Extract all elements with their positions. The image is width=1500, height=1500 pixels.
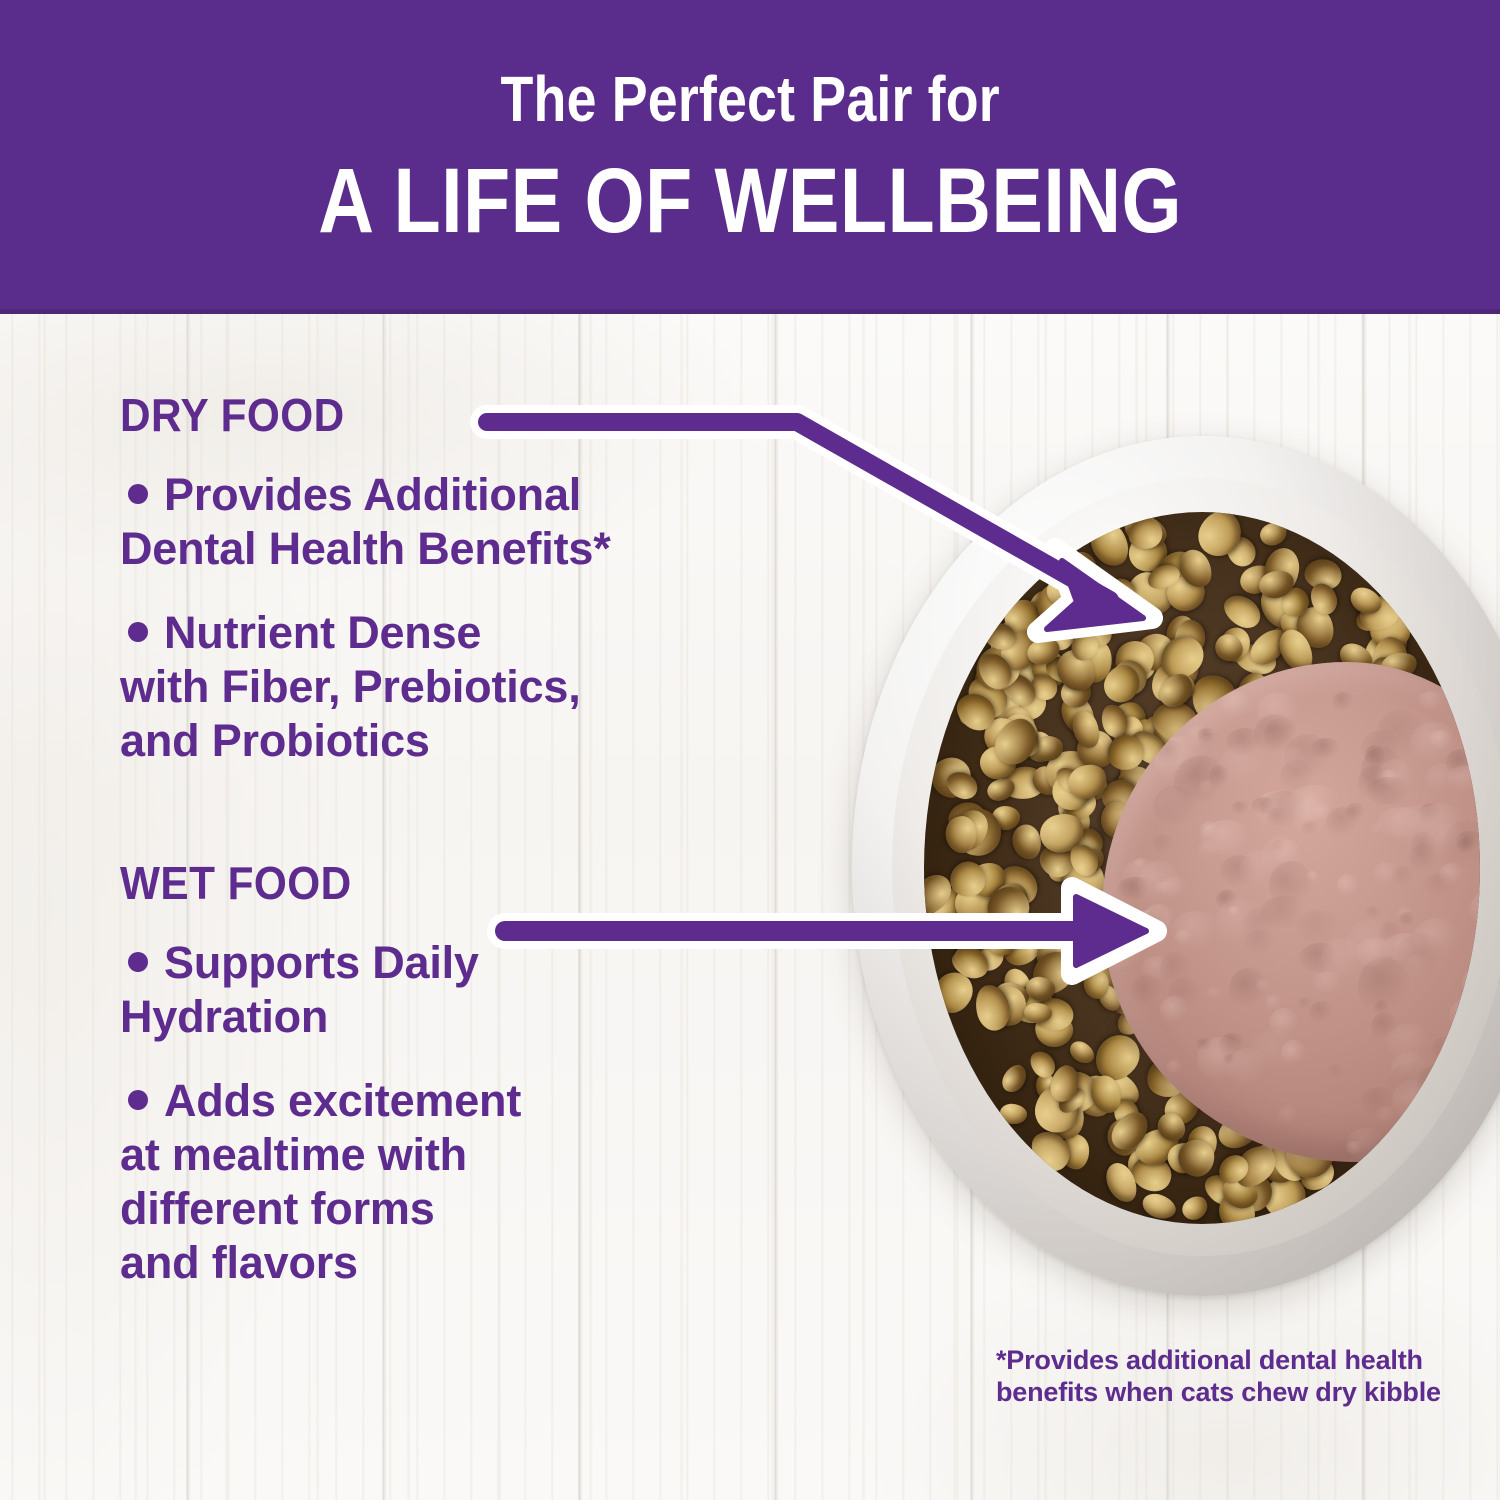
pate-texture — [1144, 909, 1168, 937]
benefits-copy-column: DRY FOOD Provides AdditionalDental Healt… — [120, 392, 810, 1320]
bullet-text-line: Supports Daily — [164, 937, 479, 988]
header-line-1: The Perfect Pair for — [500, 67, 999, 131]
bullet-text-line: with Fiber, Prebiotics, — [120, 661, 581, 712]
pate-texture — [1391, 1052, 1428, 1089]
list-item: Provides AdditionalDental Health Benefit… — [120, 468, 810, 576]
pate-texture — [1256, 979, 1271, 993]
pate-texture — [1157, 740, 1182, 765]
bullet-dot-icon — [128, 952, 148, 972]
pate-texture — [1160, 996, 1190, 1023]
pate-texture — [1405, 954, 1433, 977]
bullet-dot-icon — [128, 484, 148, 504]
bullet-text-line: Provides Additional — [164, 469, 581, 520]
pate-texture — [1470, 888, 1480, 930]
list-item: Adds excitementat mealtime withdifferent… — [120, 1074, 810, 1290]
bullet-text-line: and flavors — [120, 1237, 358, 1288]
pate-texture — [1269, 1008, 1299, 1038]
pet-food-bowl-photo — [852, 436, 1500, 1298]
kibble-piece — [945, 815, 977, 853]
bullet-text-line: Dental Health Benefits* — [120, 523, 611, 574]
pate-texture — [1411, 832, 1436, 861]
pate-texture — [1337, 874, 1358, 898]
bullet-text-line: different forms — [120, 1183, 435, 1234]
pate-texture — [1309, 1001, 1334, 1024]
pate-texture — [1361, 1087, 1397, 1116]
pate-texture — [1365, 906, 1383, 919]
pate-texture — [1358, 765, 1389, 802]
pate-texture — [1206, 986, 1223, 1000]
bullet-text-line: Nutrient Dense — [164, 607, 481, 658]
pate-texture — [1424, 873, 1457, 896]
bullet-dot-icon — [128, 1090, 148, 1110]
pate-texture — [1160, 952, 1191, 986]
pate-texture — [1269, 861, 1313, 910]
pate-texture — [1332, 692, 1355, 711]
bowl-interior — [924, 512, 1480, 1224]
kibble-piece — [1178, 1191, 1212, 1224]
kibble-piece — [1066, 1037, 1098, 1068]
section-spacer — [120, 798, 810, 860]
pate-texture — [1198, 733, 1223, 753]
pate-texture — [1242, 908, 1279, 941]
footnote-disclaimer: *Provides additional dental health benef… — [996, 1344, 1466, 1409]
pate-texture — [1284, 734, 1332, 781]
footnote-line-1: *Provides additional dental health — [996, 1344, 1466, 1376]
section-heading-wet-food: WET FOOD — [120, 860, 755, 906]
pate-texture — [1462, 967, 1480, 1000]
pate-texture — [1474, 1040, 1480, 1060]
pate-texture — [1296, 910, 1343, 946]
list-item: Nutrient Densewith Fiber, Prebiotics,and… — [120, 606, 810, 768]
list-item: Supports DailyHydration — [120, 936, 810, 1044]
pate-texture — [1131, 975, 1162, 1008]
pate-texture — [1175, 929, 1192, 944]
pate-texture — [1154, 881, 1173, 893]
pate-texture — [1102, 922, 1144, 976]
bullet-text-line: Hydration — [120, 991, 328, 1042]
pate-texture — [1249, 1030, 1301, 1071]
bullet-dot-icon — [128, 622, 148, 642]
kibble-piece — [1218, 590, 1265, 635]
pate-texture — [1231, 801, 1251, 815]
pate-texture — [1397, 906, 1413, 923]
infographic-canvas: The Perfect Pair for A LIFE OF WELLBEING… — [0, 0, 1500, 1500]
pate-texture — [1166, 1060, 1184, 1074]
pate-texture — [1278, 1105, 1299, 1126]
footnote-line-2: benefits when cats chew dry kibble — [996, 1376, 1466, 1408]
pate-texture — [1153, 834, 1174, 853]
section-heading-dry-food: DRY FOOD — [120, 392, 755, 438]
pate-texture — [1221, 691, 1252, 716]
pate-texture — [1418, 691, 1445, 709]
pate-texture — [1298, 997, 1313, 1010]
pate-texture — [1346, 1128, 1387, 1162]
bullet-text-line: and Probiotics — [120, 715, 430, 766]
kibble-piece — [1084, 969, 1109, 999]
pate-texture — [1431, 1037, 1455, 1064]
bullet-text-line: Adds excitement — [164, 1075, 521, 1126]
header-banner: The Perfect Pair for A LIFE OF WELLBEING — [0, 0, 1500, 314]
dry-food-bullet-list: Provides AdditionalDental Health Benefit… — [120, 468, 810, 768]
pate-texture — [1328, 1064, 1345, 1078]
kibble-piece — [997, 1060, 1031, 1096]
wet-food-bullet-list: Supports DailyHydration Adds excitementa… — [120, 936, 810, 1290]
pate-texture — [1447, 765, 1480, 791]
bullet-text-line: at mealtime with — [120, 1129, 467, 1180]
pate-texture — [1449, 997, 1480, 1035]
pate-texture — [1379, 922, 1402, 944]
pate-texture — [1196, 1038, 1214, 1051]
pate-texture — [1289, 785, 1342, 820]
header-line-2: A LIFE OF WELLBEING — [318, 155, 1182, 247]
